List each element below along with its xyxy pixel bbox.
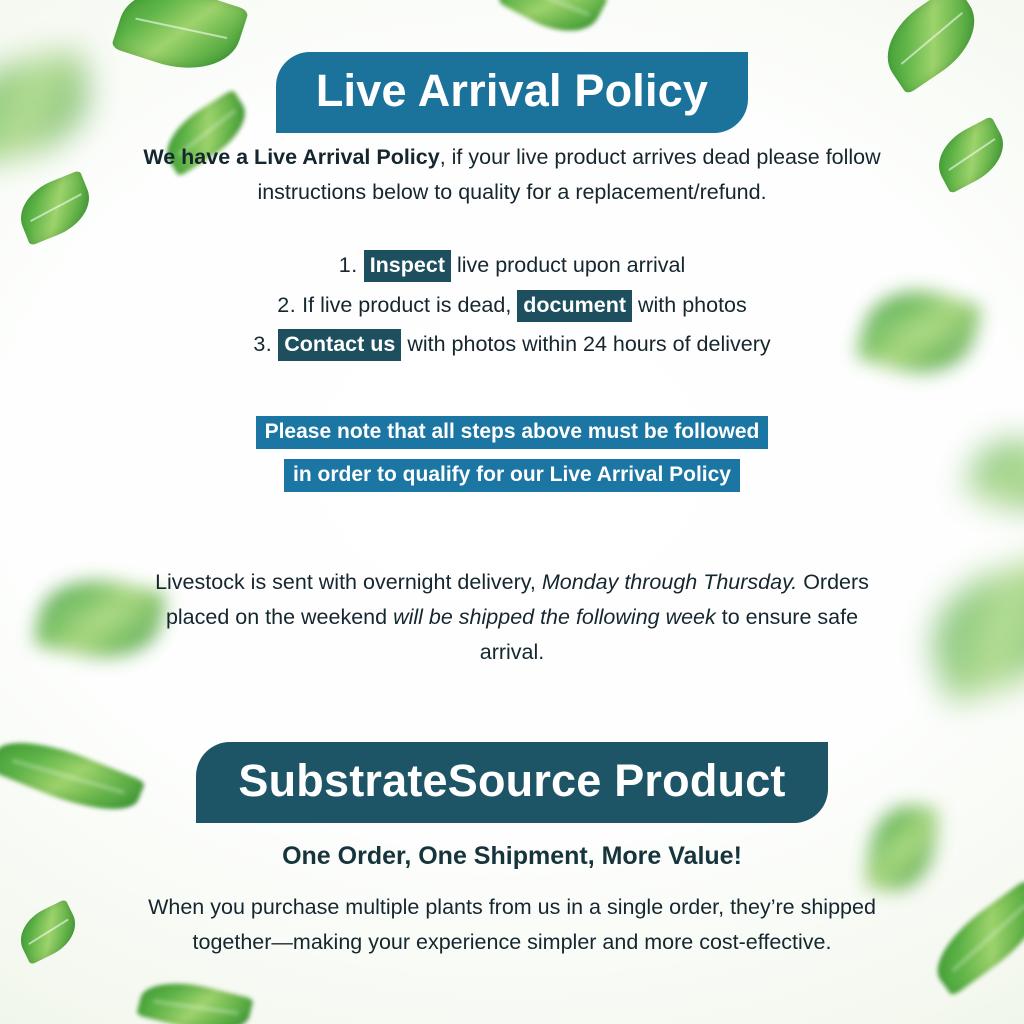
list-item: 3. Contact us with photos within 24 hour… bbox=[0, 334, 1024, 356]
step-highlight-inspect: Inspect bbox=[364, 250, 451, 282]
shipping-line2-italic: will be shipped the following week bbox=[393, 605, 716, 629]
list-item: 1. Inspect live product upon arrival bbox=[0, 255, 1024, 277]
promo-graphic: Live Arrival Policy We have a Live Arriv… bbox=[0, 0, 1024, 1024]
shipping-line1-italic: Monday through Thursday. bbox=[542, 570, 797, 594]
intro-paragraph: We have a Live Arrival Policy, if your l… bbox=[0, 140, 1024, 210]
product-body-line-1: When you purchase multiple plants from u… bbox=[148, 895, 876, 919]
list-item: 2. If live product is dead, document wit… bbox=[0, 295, 1024, 317]
note-line-2: in order to qualify for our Live Arrival… bbox=[284, 459, 740, 492]
shipping-line1-plain: Livestock is sent with overnight deliver… bbox=[155, 570, 542, 594]
step-highlight-document: document bbox=[517, 290, 632, 322]
product-body-line-2: together—making your experience simpler … bbox=[193, 930, 832, 954]
intro-bold-lead: We have a Live Arrival Policy bbox=[143, 145, 439, 169]
live-arrival-policy-banner: Live Arrival Policy bbox=[276, 52, 748, 133]
step-number: 1. bbox=[339, 253, 358, 277]
steps-list: 1. Inspect live product upon arrival 2. … bbox=[0, 255, 1024, 374]
step-after-text: with photos bbox=[632, 293, 747, 317]
live-arrival-banner-wrap: Live Arrival Policy bbox=[0, 52, 1024, 133]
content-root: Live Arrival Policy We have a Live Arriv… bbox=[0, 0, 1024, 1024]
step-before-text: If live product is dead, bbox=[302, 293, 517, 317]
shipping-paragraph: Livestock is sent with overnight deliver… bbox=[0, 565, 1024, 669]
product-body-paragraph: When you purchase multiple plants from u… bbox=[0, 890, 1024, 960]
product-tagline: One Order, One Shipment, More Value! bbox=[0, 842, 1024, 871]
note-row: Please note that all steps above must be… bbox=[0, 416, 1024, 449]
step-number: 3. bbox=[253, 332, 272, 356]
note-row: in order to qualify for our Live Arrival… bbox=[0, 459, 1024, 492]
step-number: 2. bbox=[277, 293, 296, 317]
step-after-text: live product upon arrival bbox=[451, 253, 685, 277]
product-banner-wrap: SubstrateSource Product bbox=[0, 742, 1024, 823]
step-after-text: with photos within 24 hours of delivery bbox=[401, 332, 770, 356]
note-line-1: Please note that all steps above must be… bbox=[256, 416, 769, 449]
substratesource-product-banner: SubstrateSource Product bbox=[196, 742, 827, 823]
step-highlight-contact-us: Contact us bbox=[278, 329, 401, 361]
policy-note-block: Please note that all steps above must be… bbox=[0, 416, 1024, 502]
